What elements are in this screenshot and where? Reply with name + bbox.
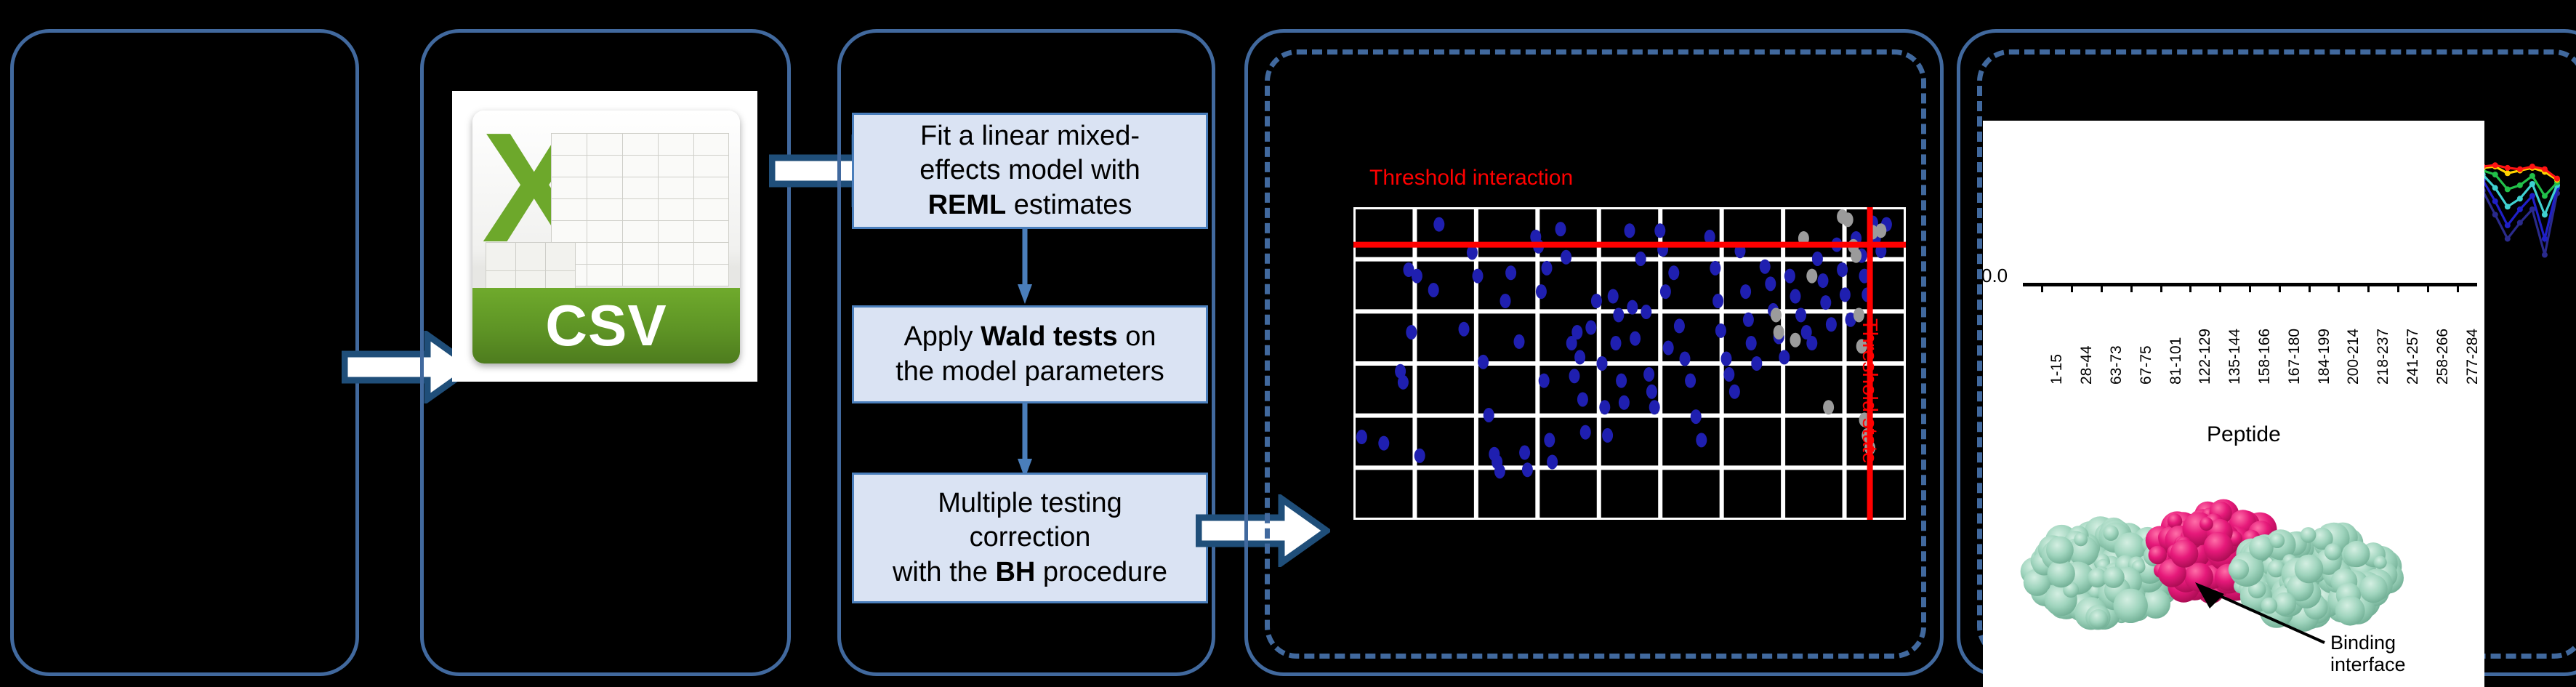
protein-structure-render: [1983, 466, 2484, 684]
multiple-testing-box[interactable]: Multiple testing correction with the BH …: [852, 473, 1208, 603]
connector-wald-to-bh: [1016, 403, 1034, 480]
multiple-testing-text: Multiple testing correction with the BH …: [893, 486, 1167, 589]
peptide-tick-label-12: 218-237: [2375, 329, 2392, 385]
multiple-testing-line-2: correction: [893, 521, 1167, 555]
wald-tests-line-1: Apply Wald tests on: [895, 320, 1164, 354]
stage-box-1: [10, 29, 359, 676]
peptide-tick-label-8: 158-166: [2256, 329, 2274, 385]
wald-tests-box[interactable]: Apply Wald tests on the model parameters: [852, 305, 1208, 403]
fit-model-line-1: Fit a linear mixed-: [919, 119, 1140, 153]
peptide-tick-label-7: 135-144: [2226, 329, 2244, 385]
csv-label-band: CSV: [472, 288, 740, 363]
threshold-interaction-label: Threshold interaction: [1369, 166, 1573, 190]
peptide-tick-label-5: 81-101: [2168, 337, 2185, 385]
threshold-state-label: Threshold state: [1857, 318, 1881, 464]
csv-spreadsheet-grid-main: [551, 133, 729, 286]
wald-tests-line-2: the model parameters: [895, 355, 1164, 389]
multiple-testing-line-3: with the BH procedure: [893, 555, 1167, 590]
binding-interface-line-1: Binding: [2330, 632, 2406, 654]
fit-model-text: Fit a linear mixed- effects model with R…: [919, 119, 1140, 222]
peptide-tick-labels: 1-1528-4463-7367-7581-101122-129135-1441…: [1983, 121, 2484, 295]
fit-model-line-2: effects model with: [919, 153, 1140, 188]
wald-tests-text: Apply Wald tests on the model parameters: [895, 320, 1164, 388]
peptide-tick-label-9: 167-180: [2286, 329, 2303, 385]
scatter-svg: [1353, 207, 1906, 520]
csv-label-text: CSV: [545, 292, 667, 359]
peptide-axis-title: Peptide: [2207, 422, 2281, 447]
figure-canvas: X CSV Fit a linear mixed- effects model …: [0, 0, 2576, 687]
peptide-tick-label-13: 241-257: [2404, 329, 2422, 385]
csv-file-icon: X CSV: [472, 111, 740, 363]
peptide-tick-label-2: 28-44: [2078, 345, 2096, 385]
peptide-tick-label-11: 200-214: [2345, 329, 2362, 385]
binding-interface-line-2: interface: [2330, 654, 2406, 675]
peptide-tick-label-1: 1-15: [2048, 354, 2066, 385]
fit-model-line-3: REML estimates: [919, 188, 1140, 222]
peptide-tick-label-4: 67-75: [2138, 345, 2155, 385]
peptide-tick-label-10: 184-199: [2316, 329, 2333, 385]
binding-interface-annotation: Binding interface: [2330, 632, 2406, 675]
peptide-white-panel: 0.0 1-1528-4463-7367-7581-101122-129135-…: [1983, 121, 2484, 687]
peptide-tick-label-14: 258-266: [2434, 329, 2452, 385]
interaction-scatter-chart: [1353, 207, 1906, 520]
multiple-testing-line-1: Multiple testing: [893, 486, 1167, 521]
connector-fit-to-wald: [1016, 229, 1034, 305]
fit-model-box[interactable]: Fit a linear mixed- effects model with R…: [852, 113, 1208, 229]
peptide-tick-label-6: 122-129: [2197, 329, 2214, 385]
peptide-tick-label-3: 63-73: [2108, 345, 2125, 385]
peptide-tick-label-15: 277-284: [2464, 329, 2482, 385]
